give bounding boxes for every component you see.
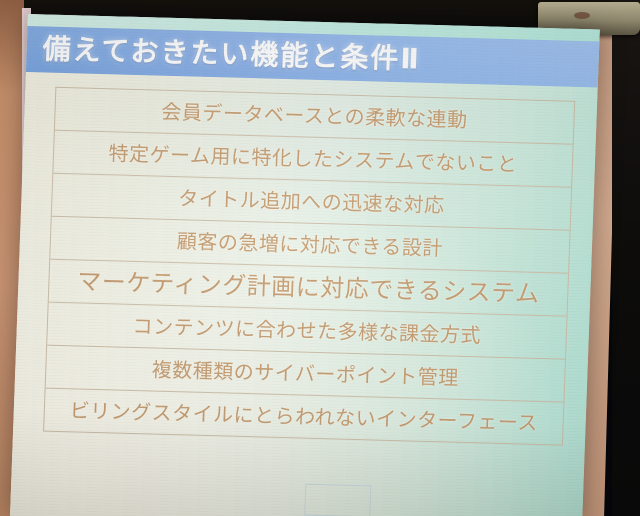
table-row-label: 複数種類のサイバーポイント管理 bbox=[151, 359, 459, 387]
slide-title: 備えておきたい機能と条件Ⅱ bbox=[42, 35, 421, 73]
table-row-label: ビリングスタイルにとらわれないインターフェース bbox=[69, 400, 538, 433]
content-table: 会員データベースとの柔軟な連動特定ゲーム用に特化したシステムでないことタイトル追… bbox=[43, 87, 575, 446]
table-row-label: タイトル追加への迅速な対応 bbox=[178, 188, 445, 215]
table-row-label: 顧客の急増に対応できる設計 bbox=[177, 231, 444, 258]
table-row-label: 会員データベースとの柔軟な連動 bbox=[161, 102, 468, 130]
table-row-label: マーケティング計画に対応できるシステム bbox=[77, 269, 540, 305]
slide-canvas: 備えておきたい機能と条件Ⅱ 会員データベースとの柔軟な連動特定ゲーム用に特化した… bbox=[10, 14, 600, 516]
photographed-scene: 備えておきたい機能と条件Ⅱ 会員データベースとの柔軟な連動特定ゲーム用に特化した… bbox=[0, 0, 640, 516]
slide-footer-placeholder bbox=[304, 484, 371, 516]
projected-slide: 備えておきたい機能と条件Ⅱ 会員データベースとの柔軟な連動特定ゲーム用に特化した… bbox=[10, 14, 600, 516]
table-row-label: コンテンツに合わせた多様な課金方式 bbox=[132, 316, 481, 345]
roller-bolt-icon bbox=[574, 12, 590, 19]
table-row-label: 特定ゲーム用に特化したシステムでないこと bbox=[108, 143, 517, 174]
screen-casing-right bbox=[612, 0, 640, 516]
